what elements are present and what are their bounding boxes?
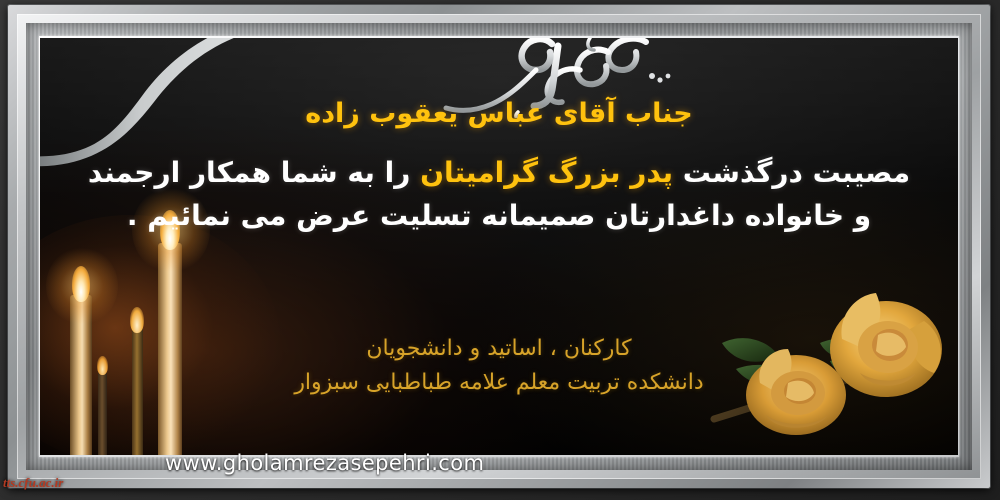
message-block: جناب آقای عباس یعقوب زاده مصیبت درگذشت پ… <box>40 98 958 237</box>
candle-flame-2 <box>72 266 90 302</box>
condolence-banner: جناب آقای عباس یعقوب زاده مصیبت درگذشت پ… <box>0 0 1000 500</box>
message-line1-part2: را به شما همکار ارجمند <box>88 156 410 189</box>
message-line1-highlight: پدر بزرگ گرامیتان <box>420 156 673 189</box>
message-line1-part1: مصیبت درگذشت <box>683 156 910 189</box>
candle-group <box>40 205 230 455</box>
message-body-line-2: و خانواده داغدارتان صمیمانه تسلیت عرض می… <box>40 195 958 238</box>
website-url[interactable]: www.gholamrezasepehri.com <box>165 451 484 475</box>
candle-flame-glow-2 <box>46 247 118 325</box>
banner-canvas: جناب آقای عباس یعقوب زاده مصیبت درگذشت پ… <box>40 38 958 455</box>
signature-block: کارکنان ، اساتید و دانشجویان دانشکده ترب… <box>40 332 958 400</box>
candle-flame-3 <box>130 307 144 333</box>
addressee-line: جناب آقای عباس یعقوب زاده <box>40 98 958 129</box>
signature-line-1: کارکنان ، اساتید و دانشجویان <box>40 332 958 366</box>
signature-line-2: دانشکده تربیت معلم علامه طباطبایی سبزوار <box>40 366 958 400</box>
message-body: مصیبت درگذشت پدر بزرگ گرامیتان را به شما… <box>40 152 958 237</box>
message-body-line-1: مصیبت درگذشت پدر بزرگ گرامیتان را به شما… <box>40 152 958 195</box>
site-credit[interactable]: tts.cfu.ac.ir <box>3 475 63 491</box>
